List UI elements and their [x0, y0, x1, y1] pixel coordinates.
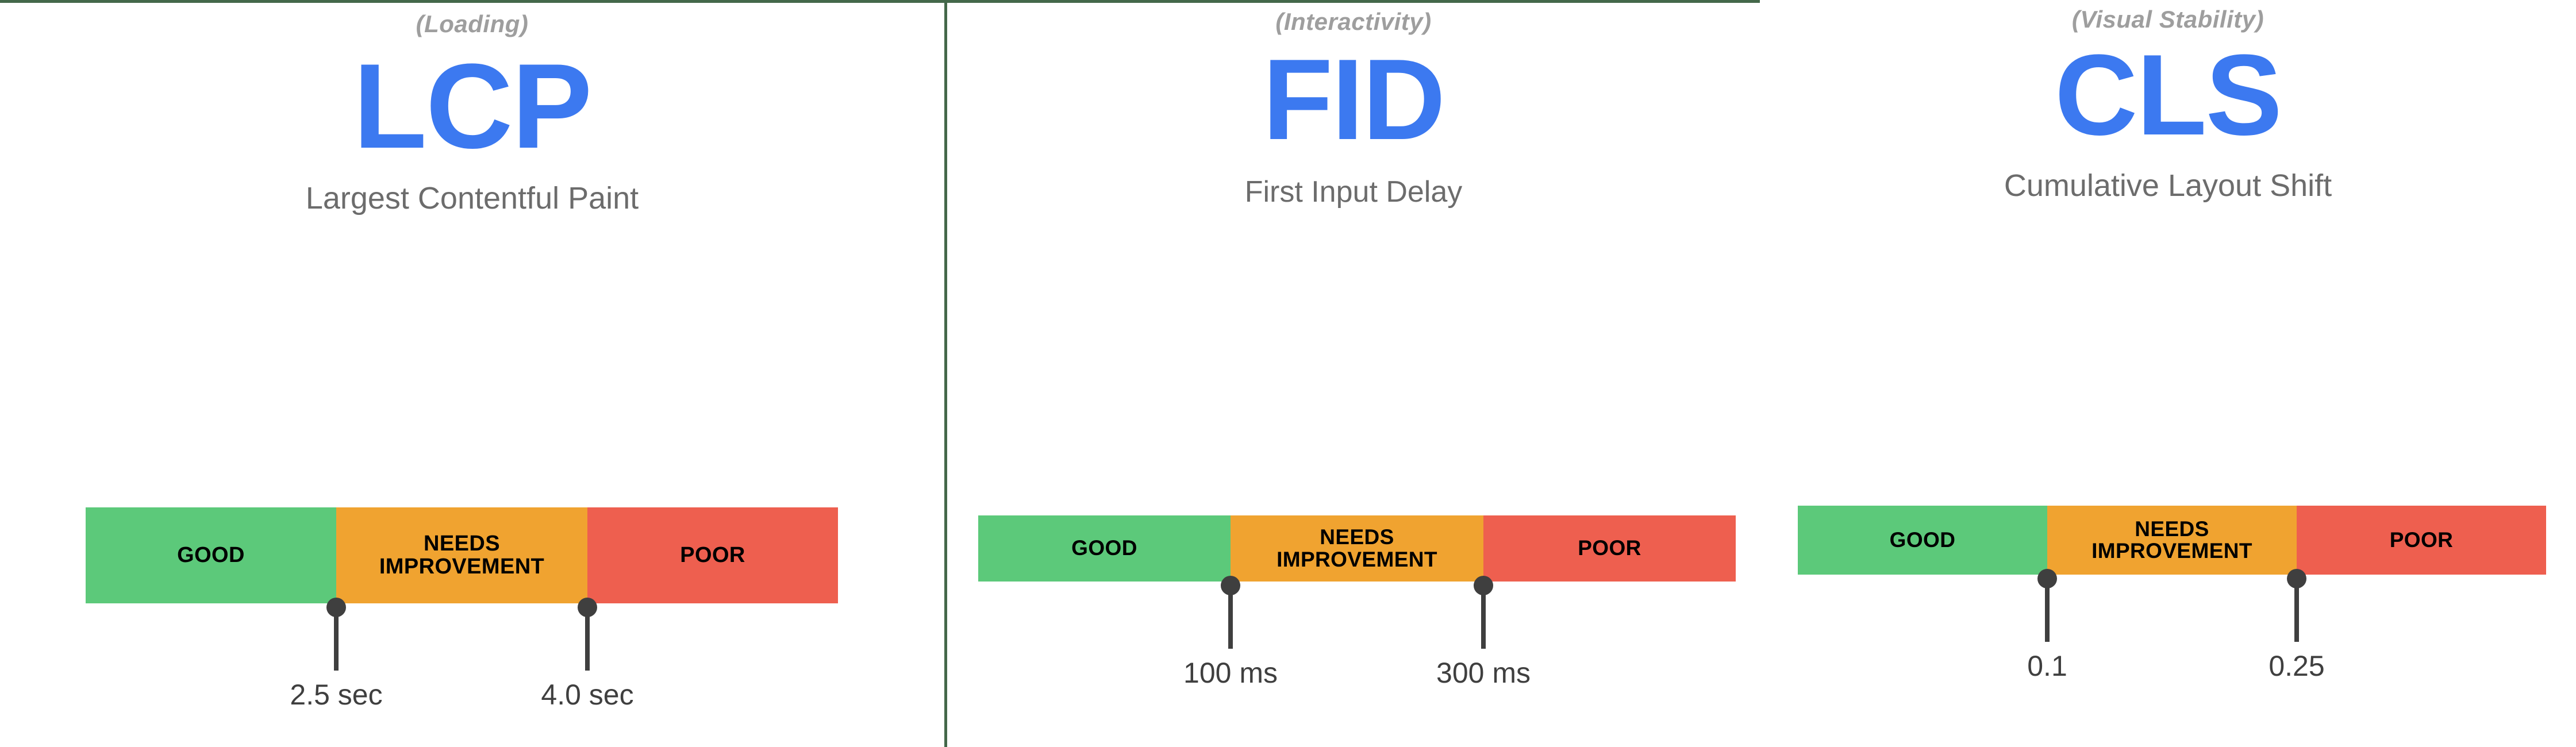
threshold-label-fid-2: 300 ms: [1436, 656, 1531, 690]
metric-category-cls: (Visual Stability): [1760, 6, 2576, 33]
bar-segment-poor-fid: POOR: [1483, 515, 1736, 582]
bar-segment-needs-improvement-lcp: NEEDS IMPROVEMENT: [336, 507, 587, 603]
metric-acronym-fid: FID: [947, 43, 1760, 157]
metric-acronym-cls: CLS: [1760, 38, 2576, 153]
metric-panel-cls: (Visual Stability) CLS Cumulative Layout…: [1760, 0, 2576, 747]
threshold-label-cls-1: 0.1: [2027, 649, 2067, 683]
threshold-bar-cls: GOOD NEEDS IMPROVEMENT POOR: [1798, 506, 2546, 575]
metric-acronym-lcp: LCP: [0, 46, 944, 167]
threshold-label-cls-2: 0.25: [2269, 649, 2324, 683]
bar-segment-good-cls: GOOD: [1798, 506, 2047, 575]
threshold-bar-fid: GOOD NEEDS IMPROVEMENT POOR: [978, 515, 1736, 582]
metric-panel-lcp: (Loading) LCP Largest Contentful Paint G…: [0, 0, 944, 747]
core-web-vitals-infographic: (Loading) LCP Largest Contentful Paint G…: [0, 0, 2576, 747]
threshold-stem: [1481, 586, 1486, 649]
metric-category-fid: (Interactivity): [947, 8, 1760, 36]
threshold-stem: [1228, 586, 1233, 649]
metric-fullname-cls: Cumulative Layout Shift: [1760, 168, 2576, 203]
bar-segment-needs-improvement-cls: NEEDS IMPROVEMENT: [2047, 506, 2297, 575]
threshold-stem: [2294, 579, 2299, 642]
bar-segment-poor-cls: POOR: [2297, 506, 2546, 575]
metric-fullname-lcp: Largest Contentful Paint: [0, 180, 944, 216]
threshold-label-fid-1: 100 ms: [1183, 656, 1278, 690]
bar-segment-good-lcp: GOOD: [86, 507, 336, 603]
bar-segment-needs-improvement-fid: NEEDS IMPROVEMENT: [1231, 515, 1483, 582]
bar-segment-good-fid: GOOD: [978, 515, 1231, 582]
threshold-stem: [585, 607, 590, 671]
threshold-label-lcp-1: 2.5 sec: [290, 678, 382, 711]
metric-panel-fid: (Interactivity) FID First Input Delay GO…: [947, 0, 1760, 747]
bar-segment-poor-lcp: POOR: [587, 507, 838, 603]
threshold-bar-lcp: GOOD NEEDS IMPROVEMENT POOR: [86, 507, 838, 603]
threshold-stem: [2045, 579, 2050, 642]
threshold-stem: [334, 607, 339, 671]
threshold-label-lcp-2: 4.0 sec: [541, 678, 633, 711]
metric-fullname-fid: First Input Delay: [947, 175, 1760, 209]
metric-category-lcp: (Loading): [0, 10, 944, 38]
